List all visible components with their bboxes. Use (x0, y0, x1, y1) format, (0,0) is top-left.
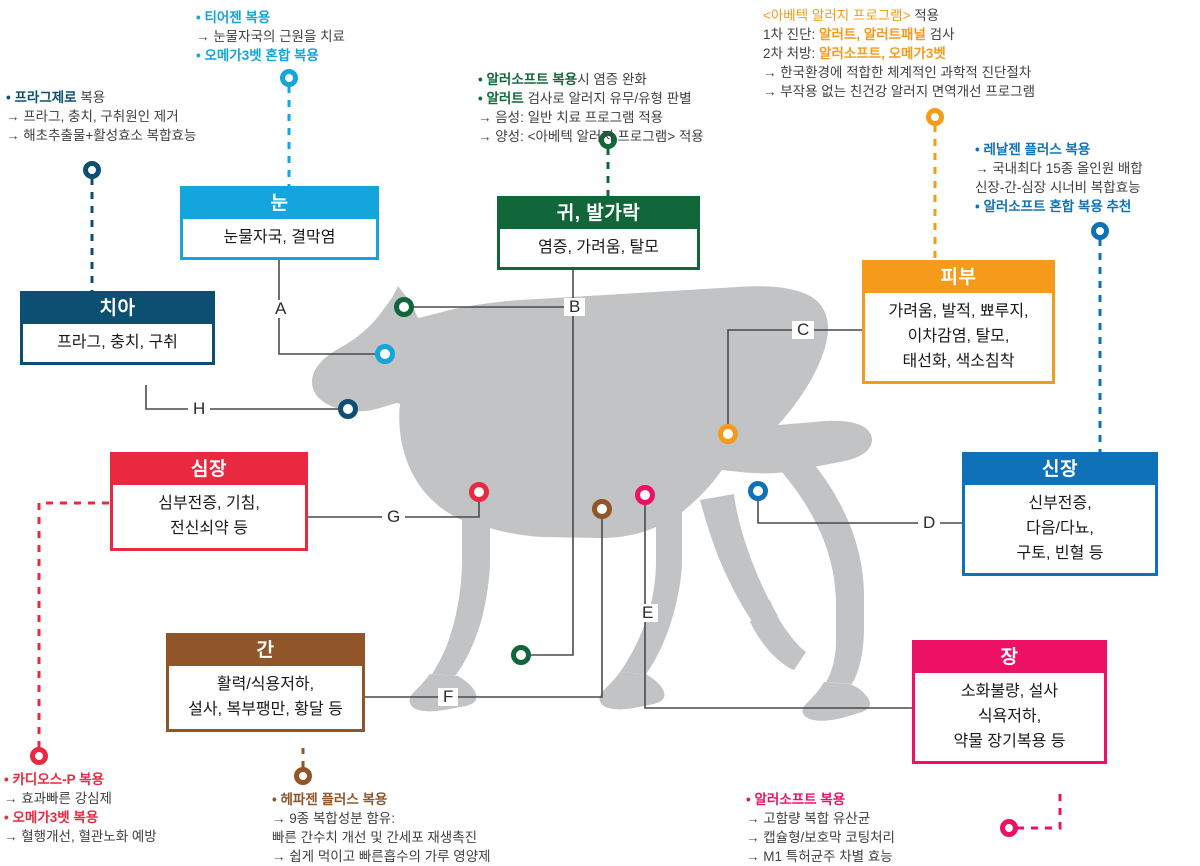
connector-label-E: E (637, 604, 658, 622)
note-emphasis: 프라그제로 (14, 90, 76, 105)
note-liver: • 헤파젠 플러스 복용→ 9종 복합성분 함유: 빠른 간수치 개선 및 간세… (272, 790, 491, 866)
organ-box-liver[interactable]: 간 활력/식용저하, 설사, 복부팽만, 황달 등 (166, 633, 365, 732)
organ-title-teeth: 치아 (23, 294, 212, 324)
symptom-line: 다음/다뇨, (971, 516, 1149, 541)
note-line: 신장-간-심장 시너비 복합효능 (975, 178, 1143, 197)
note-text: 캡슐형/보호막 코팅처리 (763, 830, 895, 845)
organ-box-heart[interactable]: 심장 심부전증, 기침, 전신쇠약 등 (110, 452, 308, 551)
symptom-line: 신부전증, (971, 491, 1149, 516)
pin-teeth[interactable] (86, 164, 99, 177)
symptom-line: 태선화, 색소침착 (871, 349, 1046, 374)
note-line: → M1 특허균주 차별 효능 (746, 847, 895, 866)
note-line: • 티어젠 복용 (196, 8, 345, 27)
symptom-line: 프라그, 충치, 구취 (29, 330, 206, 355)
arrow-icon: → (4, 829, 21, 844)
note-line: • 오메가3벳 복용 (4, 808, 157, 827)
note-text: 쉽게 먹이고 빠른흡수의 가루 영양제 (289, 849, 490, 864)
arrow-icon: → (6, 109, 23, 124)
note-text: 빠른 간수치 개선 및 간세포 재생촉진 (272, 830, 477, 845)
marker-ear-toe-paw[interactable] (514, 648, 529, 663)
note-text: 눈물자국의 근원을 치료 (213, 29, 345, 44)
note-line: → 한국환경에 적합한 체계적인 과학적 진단절차 (763, 63, 1035, 82)
note-text: 양성: <아베텍 알러지 프로그램> 적용 (495, 129, 703, 144)
note-emphasis: 카디오스-P 복용 (12, 772, 104, 787)
note-line: • 알러소프트 혼합 복용 추천 (975, 197, 1143, 216)
symptom-line: 전신쇠약 등 (119, 516, 299, 541)
organ-box-kidney[interactable]: 신장 신부전증, 다음/다뇨, 구토, 빈혈 등 (962, 452, 1158, 576)
note-highlight: 알러트, 알러트패널 (819, 27, 926, 42)
organ-symptoms-ear-toe: 염증, 가려움, 탈모 (500, 229, 697, 267)
arrow-icon: → (746, 830, 763, 845)
note-emphasis: 오메가3벳 혼합 복용 (204, 48, 318, 63)
note-text: 시 염증 완화 (577, 72, 647, 87)
organ-title-liver: 간 (169, 636, 362, 666)
connector-label-C: C (792, 321, 814, 339)
note-highlight: 알러소프트, 오메가3벳 (819, 46, 946, 61)
note-text: 검사로 알러지 유무/유형 판별 (524, 91, 692, 106)
note-line: → 국내최다 15종 올인원 배합 (975, 159, 1143, 178)
note-line: → 양성: <아베텍 알러지 프로그램> 적용 (478, 127, 704, 146)
note-line: • 헤파젠 플러스 복용 (272, 790, 491, 809)
note-emphasis: 알러소프트 혼합 복용 추천 (983, 199, 1131, 214)
note-text: 적용 (910, 8, 939, 23)
note-line: 빠른 간수치 개선 및 간세포 재생촉진 (272, 828, 491, 847)
organ-box-eye[interactable]: 눈 눈물자국, 결막염 (180, 186, 379, 260)
note-emphasis: 알러소프트 복용 (754, 792, 845, 807)
note-skin: <아베텍 알러지 프로그램> 적용1차 진단: 알러트, 알러트패널 검사2차 … (763, 6, 1035, 101)
pin-liver[interactable] (297, 770, 310, 783)
arrow-icon: → (272, 811, 289, 826)
note-text: M1 특허균주 차별 효능 (763, 849, 892, 864)
organ-box-teeth[interactable]: 치아 프라그, 충치, 구취 (20, 291, 215, 365)
arrow-icon: → (746, 811, 763, 826)
note-text: 한국환경에 적합한 체계적인 과학적 진단절차 (780, 65, 1031, 80)
note-emphasis: 티어젠 복용 (204, 10, 270, 25)
note-text: 국내최다 15종 올인원 배합 (992, 161, 1142, 176)
organ-title-heart: 심장 (113, 455, 305, 485)
arrow-icon: → (4, 791, 21, 806)
connector-label-A: A (270, 300, 291, 318)
connector-label-D: D (918, 514, 940, 532)
pin-eye[interactable] (283, 72, 296, 85)
organ-title-kidney: 신장 (965, 455, 1155, 485)
note-text: 음성: 일반 치료 프로그램 적용 (495, 110, 663, 125)
organ-title-ear-toe: 귀, 발가락 (500, 199, 697, 229)
note-line: <아베텍 알러지 프로그램> 적용 (763, 6, 1035, 25)
symptom-line: 식욕저하, (921, 704, 1098, 729)
symptom-line: 이차감염, 탈모, (871, 324, 1046, 349)
note-line: • 오메가3벳 혼합 복용 (196, 46, 345, 65)
note-text: 검사 (926, 27, 955, 42)
note-text: 프라그, 충치, 구취원인 제거 (23, 109, 178, 124)
marker-eye[interactable] (378, 347, 393, 362)
note-line: • 알러트 검사로 알러지 유무/유형 판별 (478, 89, 704, 108)
note-line: → 고함량 복합 유산균 (746, 809, 895, 828)
arrow-icon: → (763, 65, 780, 80)
organ-title-skin: 피부 (865, 263, 1052, 293)
pin-heart[interactable] (33, 750, 46, 763)
symptom-line: 가려움, 발적, 뾰루지, (871, 299, 1046, 324)
note-line: • 알러소프트 복용 (746, 790, 895, 809)
organ-title-eye: 눈 (183, 189, 376, 219)
symptom-line: 심부전증, 기침, (119, 491, 299, 516)
note-text: 해초추출물+활성효소 복합효능 (23, 128, 196, 143)
note-text: 부작용 없는 친건강 알러지 면역개선 프로그램 (780, 84, 1035, 99)
arrow-icon: → (6, 128, 23, 143)
note-line: • 레날젠 플러스 복용 (975, 140, 1143, 159)
symptom-line: 약물 장기복용 등 (921, 729, 1098, 754)
organ-box-intestine[interactable]: 장 소화불량, 설사 식욕저하, 약물 장기복용 등 (912, 640, 1107, 764)
note-line: → 눈물자국의 근원을 치료 (196, 27, 345, 46)
leader-heart (39, 503, 112, 748)
note-line: → 9종 복합성분 함유: (272, 809, 491, 828)
organ-symptoms-intestine: 소화불량, 설사 식욕저하, 약물 장기복용 등 (915, 673, 1104, 761)
note-text: 1차 진단: (763, 27, 819, 42)
arrow-icon: → (763, 84, 780, 99)
pin-skin[interactable] (929, 111, 942, 124)
note-ear-toe: • 알러소프트 복용시 염증 완화• 알러트 검사로 알러지 유무/유형 판별→… (478, 70, 704, 146)
arrow-icon: → (478, 129, 495, 144)
marker-teeth[interactable] (341, 402, 356, 417)
note-line: → 혈행개선, 혈관노화 예방 (4, 827, 157, 846)
note-headline: <아베텍 알러지 프로그램> (763, 8, 910, 23)
marker-kidney[interactable] (751, 484, 766, 499)
note-emphasis: 헤파젠 플러스 복용 (280, 792, 387, 807)
note-line: • 카디오스-P 복용 (4, 770, 157, 789)
note-intestine: • 알러소프트 복용→ 고함량 복합 유산균→ 캡슐형/보호막 코팅처리→ M1… (746, 790, 895, 866)
organ-box-skin[interactable]: 피부 가려움, 발적, 뾰루지, 이차감염, 탈모, 태선화, 색소침착 (862, 260, 1055, 384)
note-text: 고함량 복합 유산균 (763, 811, 870, 826)
marker-intestine[interactable] (638, 488, 653, 503)
note-line: → 음성: 일반 치료 프로그램 적용 (478, 108, 704, 127)
symptom-line: 소화불량, 설사 (921, 679, 1098, 704)
symptom-line: 설사, 복부팽만, 황달 등 (175, 697, 356, 722)
note-line: 2차 처방: 알러소프트, 오메가3벳 (763, 44, 1035, 63)
note-line: • 프라그제로 복용 (6, 88, 196, 107)
note-teeth: • 프라그제로 복용→ 프라그, 충치, 구취원인 제거→ 해초추출물+활성효소… (6, 88, 196, 145)
note-text: 효과빠른 강심제 (21, 791, 112, 806)
arrow-icon: → (196, 29, 213, 44)
note-text: 복용 (77, 90, 106, 105)
note-line: → 쉽게 먹이고 빠른흡수의 가루 영양제 (272, 847, 491, 866)
note-text: 혈행개선, 혈관노화 예방 (21, 829, 156, 844)
organ-symptoms-liver: 활력/식용저하, 설사, 복부팽만, 황달 등 (169, 666, 362, 729)
note-kidney: • 레날젠 플러스 복용→ 국내최다 15종 올인원 배합 신장-간-심장 시너… (975, 140, 1143, 216)
arrow-icon: → (272, 849, 289, 864)
organ-box-ear-toe[interactable]: 귀, 발가락 염증, 가려움, 탈모 (497, 196, 700, 270)
organ-symptoms-eye: 눈물자국, 결막염 (183, 219, 376, 257)
connector-label-H: H (188, 400, 210, 418)
symptom-line: 눈물자국, 결막염 (189, 225, 370, 250)
symptom-line: 구토, 빈혈 등 (971, 541, 1149, 566)
symptom-line: 염증, 가려움, 탈모 (506, 235, 691, 260)
marker-liver[interactable] (595, 502, 610, 517)
note-emphasis: 알러소프트 복용 (486, 72, 577, 87)
note-line: → 해초추출물+활성효소 복합효능 (6, 126, 196, 145)
note-line: → 부작용 없는 친건강 알러지 면역개선 프로그램 (763, 82, 1035, 101)
leader-intestine (1017, 790, 1060, 828)
infographic-canvas: A B C D E F G H 치아 프라그, 충치, 구취 눈 눈물자국, 결… (0, 0, 1200, 864)
organ-symptoms-skin: 가려움, 발적, 뾰루지, 이차감염, 탈모, 태선화, 색소침착 (865, 293, 1052, 381)
dog-silhouette (312, 286, 872, 721)
note-text: 9종 복합성분 함유: (289, 811, 395, 826)
organ-symptoms-kidney: 신부전증, 다음/다뇨, 구토, 빈혈 등 (965, 485, 1155, 573)
organ-title-intestine: 장 (915, 643, 1104, 673)
marker-heart[interactable] (472, 485, 487, 500)
marker-ear-toe-head[interactable] (397, 300, 412, 315)
note-text: 2차 처방: (763, 46, 819, 61)
note-line: → 프라그, 충치, 구취원인 제거 (6, 107, 196, 126)
pin-intestine[interactable] (1003, 822, 1016, 835)
note-emphasis: 알러트 (486, 91, 523, 106)
note-emphasis: 레날젠 플러스 복용 (983, 142, 1090, 157)
arrow-icon: → (746, 849, 763, 864)
note-line: → 효과빠른 강심제 (4, 789, 157, 808)
arrow-icon: → (478, 110, 495, 125)
note-text: 신장-간-심장 시너비 복합효능 (975, 180, 1141, 195)
note-emphasis: 오메가3벳 복용 (12, 810, 98, 825)
note-eye: • 티어젠 복용→ 눈물자국의 근원을 치료• 오메가3벳 혼합 복용 (196, 8, 345, 65)
connector-label-B: B (564, 298, 585, 316)
connector-label-F: F (438, 688, 458, 706)
organ-symptoms-heart: 심부전증, 기침, 전신쇠약 등 (113, 485, 305, 548)
note-line: 1차 진단: 알러트, 알러트패널 검사 (763, 25, 1035, 44)
organ-symptoms-teeth: 프라그, 충치, 구취 (23, 324, 212, 362)
connector-E (645, 495, 912, 708)
note-line: → 캡슐형/보호막 코팅처리 (746, 828, 895, 847)
arrow-icon: → (975, 161, 992, 176)
marker-skin[interactable] (721, 427, 736, 442)
connector-label-G: G (382, 508, 405, 526)
symptom-line: 활력/식용저하, (175, 672, 356, 697)
pin-kidney[interactable] (1094, 225, 1107, 238)
note-heart: • 카디오스-P 복용→ 효과빠른 강심제• 오메가3벳 복용→ 혈행개선, 혈… (4, 770, 157, 846)
note-line: • 알러소프트 복용시 염증 완화 (478, 70, 704, 89)
